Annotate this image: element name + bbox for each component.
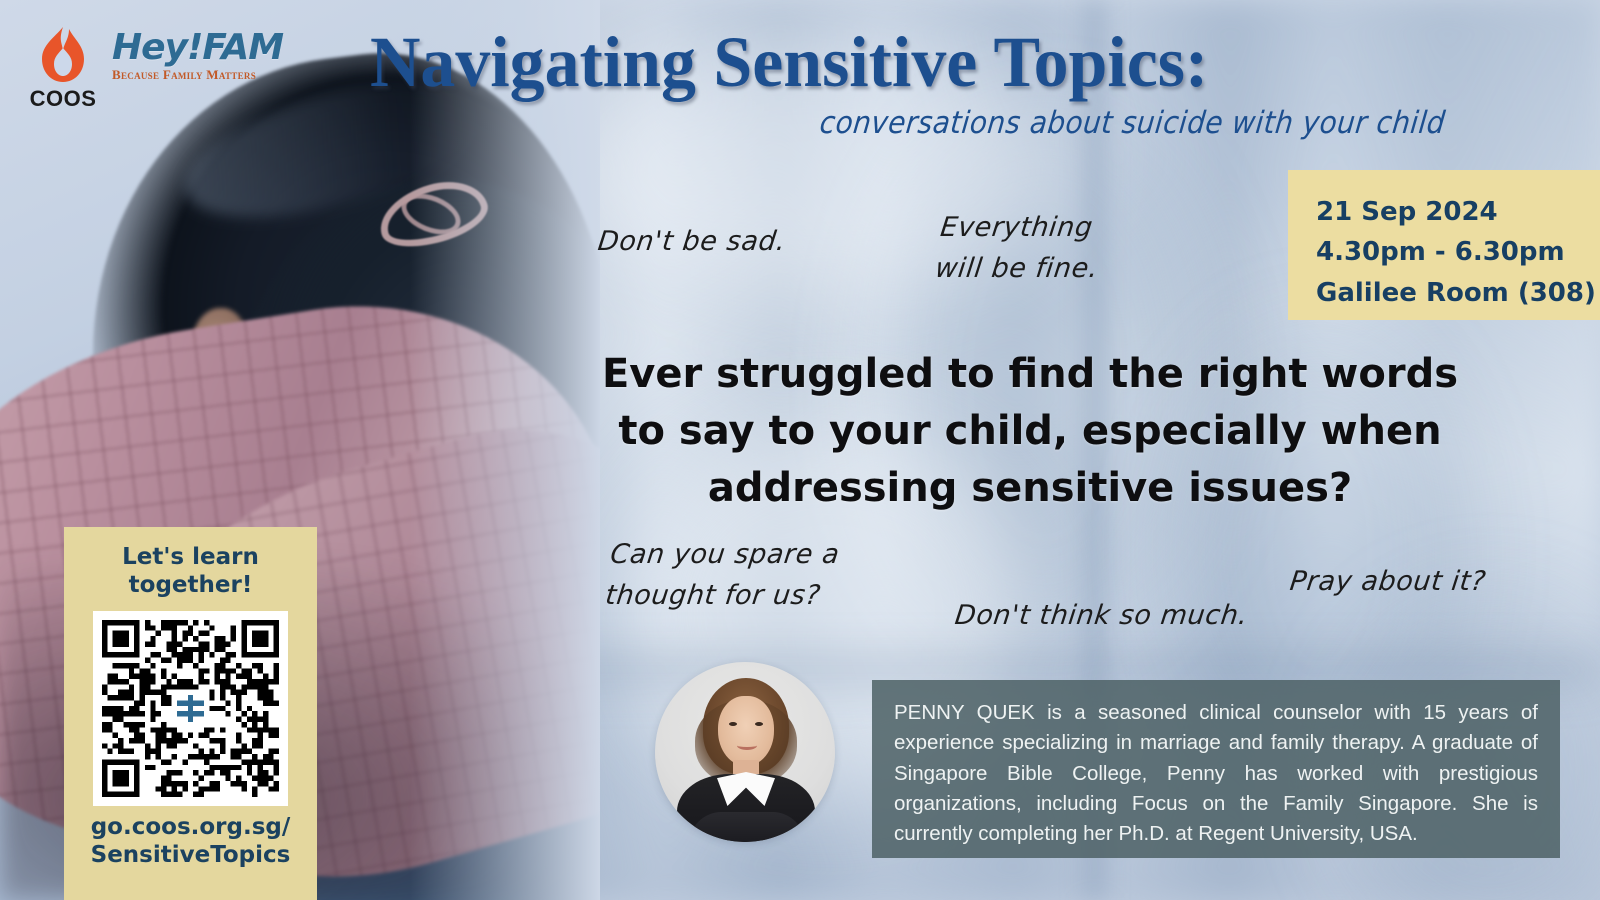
main-headline: Ever struggled to find the right words t… [600, 346, 1460, 516]
coos-logo[interactable]: COOS [22, 26, 104, 114]
heyfam-logo[interactable]: Hey!FAM Because Family Matters [112, 30, 262, 102]
heyfam-tagline: Because Family Matters [112, 67, 262, 83]
page-title: Navigating Sensitive Topics: [370, 28, 1340, 96]
speaker-eye-left [729, 722, 737, 726]
qr-signup-panel[interactable]: Let's learn together! go.coos.org.sg/ Se… [64, 527, 317, 900]
qr-code-image[interactable] [93, 611, 288, 806]
speaker-folded-arms [689, 812, 805, 842]
event-time: 4.30pm - 6.30pm [1316, 232, 1600, 272]
quote-spare-a-thought: Can you spare a thought for us? [603, 535, 842, 616]
event-venue: Galilee Room (308) [1316, 273, 1600, 313]
speaker-face [718, 696, 774, 766]
event-poster: COOS Hey!FAM Because Family Matters Navi… [0, 0, 1600, 900]
flame-icon [36, 26, 90, 84]
coos-wordmark: COOS [22, 86, 104, 112]
speaker-smile [737, 741, 757, 750]
speaker-bio-text: PENNY QUEK is a seasoned clinical counse… [894, 698, 1538, 850]
quote-dont-think-so-much: Don't think so much. [953, 596, 1251, 637]
speaker-avatar [655, 662, 835, 842]
heyfam-wordmark: Hey!FAM [112, 30, 262, 66]
event-details-box: 21 Sep 2024 4.30pm - 6.30pm Galilee Room… [1288, 170, 1600, 320]
quote-everything-will-be-fine: Everything will be fine. [933, 208, 1106, 289]
page-subtitle: conversations about suicide with your ch… [818, 104, 1442, 140]
photo-right-fade [410, 0, 600, 900]
quote-dont-be-sad: Don't be sad. [596, 222, 788, 263]
qr-code-canvas[interactable] [102, 620, 279, 797]
qr-panel-title: Let's learn together! [64, 543, 317, 599]
event-date: 21 Sep 2024 [1316, 192, 1600, 232]
speaker-eye-right [755, 722, 763, 726]
quote-pray-about-it: Pray about it? [1288, 562, 1489, 603]
speaker-bio-box: PENNY QUEK is a seasoned clinical counse… [872, 680, 1560, 858]
qr-signup-url: go.coos.org.sg/ SensitiveTopics [64, 814, 317, 869]
